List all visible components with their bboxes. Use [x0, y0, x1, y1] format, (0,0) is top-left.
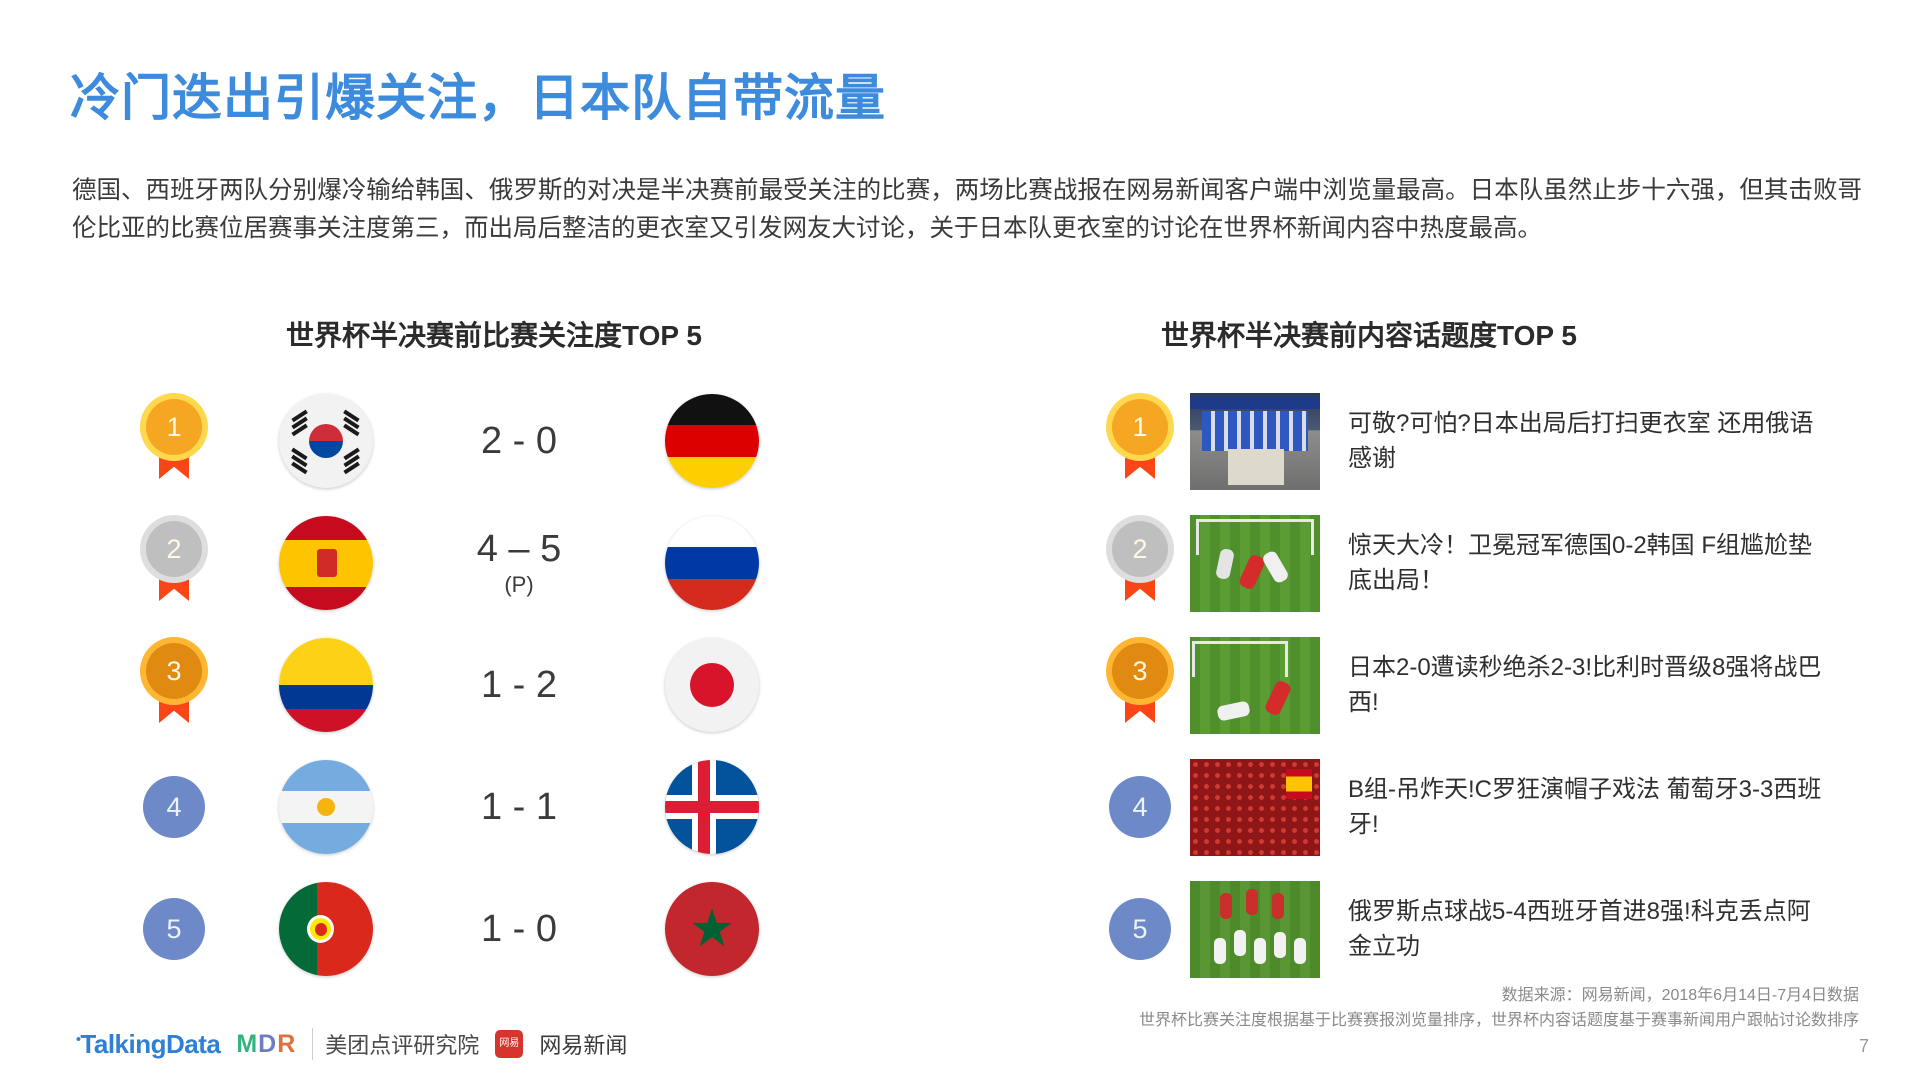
match-score: 2 - 0	[424, 422, 614, 460]
page-title: 冷门迭出引爆关注，日本队自带流量	[70, 58, 886, 130]
rank-cell: 3	[1090, 643, 1190, 727]
news-headline[interactable]: 俄罗斯点球战5-4西班牙首进8强!科克丢点阿金立功	[1348, 894, 1828, 964]
footer-logos: •TalkingData MDR 美团点评研究院 网易 网易新闻	[76, 1028, 627, 1060]
rank-badge: 4	[143, 776, 205, 838]
news-row[interactable]: 1 可敬?可怕?日本出局后打扫更衣室 还用俄语感谢	[1090, 380, 1890, 502]
score-text: 4 – 5	[477, 528, 562, 570]
rank-cell: 1	[1090, 399, 1190, 483]
match-ranking-list: 1	[120, 380, 880, 990]
footnote-block: 数据来源：网易新闻，2018年6月14日-7月4日数据 世界杯比赛关注度根据基于…	[1139, 983, 1859, 1033]
away-flag-cell	[614, 516, 810, 610]
penalty-note: (P)	[424, 574, 614, 596]
rank-cell: 5	[1090, 898, 1190, 960]
match-row: 3 1 - 2	[120, 624, 880, 746]
rank-badge: 4	[1109, 776, 1171, 838]
bronze-medal-icon: 3	[1112, 643, 1168, 727]
flag-morocco-icon: ★	[665, 882, 759, 976]
home-flag-cell	[228, 760, 424, 854]
flag-argentina-icon	[279, 760, 373, 854]
flag-iceland-icon	[665, 760, 759, 854]
flag-russia-icon	[665, 516, 759, 610]
rank-badge: 5	[1109, 898, 1171, 960]
rank-cell: 4	[1090, 776, 1190, 838]
home-flag-cell	[228, 516, 424, 610]
flag-south-korea-icon	[279, 394, 373, 488]
away-flag-cell	[614, 760, 810, 854]
mdr-logo: MDR	[236, 1030, 296, 1059]
news-row[interactable]: 2 惊天大冷！卫冕冠军德国0-2韩国 F组尴尬垫底出局！	[1090, 502, 1890, 624]
news-thumbnail[interactable]	[1190, 515, 1320, 612]
rank-cell: 5	[120, 898, 228, 960]
wangyi-news-logo: 网易新闻	[539, 1028, 627, 1060]
news-thumbnail[interactable]	[1190, 759, 1320, 856]
flag-portugal-icon	[279, 882, 373, 976]
match-row: 4 1 - 1	[120, 746, 880, 868]
news-headline[interactable]: 惊天大冷！卫冕冠军德国0-2韩国 F组尴尬垫底出局！	[1348, 528, 1828, 598]
gold-medal-icon: 1	[1112, 399, 1168, 483]
away-flag-cell	[614, 394, 810, 488]
news-thumbnail[interactable]	[1190, 637, 1320, 734]
rank-cell: 3	[120, 643, 228, 727]
rank-cell: 2	[120, 521, 228, 605]
rank-cell: 1	[120, 399, 228, 483]
home-flag-cell	[228, 638, 424, 732]
rank-badge: 5	[143, 898, 205, 960]
score-text: 2 - 0	[481, 420, 557, 462]
silver-medal-icon: 2	[146, 521, 202, 605]
match-score: 1 - 2	[424, 666, 614, 704]
match-score: 1 - 1	[424, 788, 614, 826]
match-score: 4 – 5 (P)	[424, 530, 614, 596]
page-number: 7	[1859, 1036, 1869, 1057]
news-ranking-list: 1 可敬?可怕?日本出局后打扫更衣室 还用俄语感谢 2 惊天大冷！卫冕冠军德国0…	[1090, 380, 1890, 990]
news-headline[interactable]: 可敬?可怕?日本出局后打扫更衣室 还用俄语感谢	[1348, 406, 1828, 476]
gold-medal-icon: 1	[146, 399, 202, 483]
flag-colombia-icon	[279, 638, 373, 732]
match-row: 5 1 - 0 ★	[120, 868, 880, 990]
footnote-method: 世界杯比赛关注度根据基于比赛赛报浏览量排序，世界杯内容话题度基于赛事新闻用户跟帖…	[1139, 1008, 1859, 1033]
medal-rank-label: 3	[146, 643, 202, 699]
rank-cell: 2	[1090, 521, 1190, 605]
meituan-research-logo: 美团点评研究院	[312, 1028, 479, 1060]
score-text: 1 - 1	[481, 786, 557, 828]
medal-rank-label: 3	[1112, 643, 1168, 699]
talkingdata-logo: •TalkingData	[76, 1029, 220, 1060]
news-headline[interactable]: B组-吊炸天!C罗狂演帽子戏法 葡萄牙3-3西班牙!	[1348, 772, 1828, 842]
news-thumbnail[interactable]	[1190, 881, 1320, 978]
intro-paragraph: 德国、西班牙两队分别爆冷输给韩国、俄罗斯的对决是半决赛前最受关注的比赛，两场比赛…	[72, 172, 1862, 248]
medal-rank-label: 1	[146, 399, 202, 455]
silver-medal-icon: 2	[1112, 521, 1168, 605]
medal-rank-label: 1	[1112, 399, 1168, 455]
talkingdata-logo-text: TalkingData	[80, 1029, 220, 1059]
news-headline[interactable]: 日本2-0遭读秒绝杀2-3!比利时晋级8强将战巴西!	[1348, 650, 1828, 720]
mdr-logo-d: D	[258, 1030, 277, 1058]
slide-page: 冷门迭出引爆关注，日本队自带流量 德国、西班牙两队分别爆冷输给韩国、俄罗斯的对决…	[0, 0, 1921, 1080]
news-row[interactable]: 4 B组-吊炸天!C罗狂演帽子戏法 葡萄牙3-3西班牙!	[1090, 746, 1890, 868]
away-flag-cell	[614, 638, 810, 732]
rank-cell: 4	[120, 776, 228, 838]
news-thumbnail[interactable]	[1190, 393, 1320, 490]
right-section-title: 世界杯半决赛前内容话题度TOP 5	[1161, 314, 1577, 354]
wangyi-badge-icon: 网易	[495, 1030, 523, 1058]
medal-rank-label: 2	[1112, 521, 1168, 577]
home-flag-cell	[228, 394, 424, 488]
score-text: 1 - 2	[481, 664, 557, 706]
mdr-logo-m: M	[236, 1030, 258, 1058]
news-row[interactable]: 5 俄罗斯点球战5-4西班牙首进8强!科克丢点阿金立功	[1090, 868, 1890, 990]
home-flag-cell	[228, 882, 424, 976]
medal-rank-label: 2	[146, 521, 202, 577]
flag-spain-icon	[279, 516, 373, 610]
score-text: 1 - 0	[481, 908, 557, 950]
flag-germany-icon	[665, 394, 759, 488]
news-row[interactable]: 3 日本2-0遭读秒绝杀2-3!比利时晋级8强将战巴西!	[1090, 624, 1890, 746]
match-score: 1 - 0	[424, 910, 614, 948]
mdr-logo-r: R	[277, 1030, 296, 1058]
left-section-title: 世界杯半决赛前比赛关注度TOP 5	[286, 314, 702, 354]
match-row: 1	[120, 380, 880, 502]
away-flag-cell: ★	[614, 882, 810, 976]
match-row: 2 4 – 5 (P)	[120, 502, 880, 624]
footnote-source: 数据来源：网易新闻，2018年6月14日-7月4日数据	[1139, 983, 1859, 1008]
bronze-medal-icon: 3	[146, 643, 202, 727]
flag-japan-icon	[665, 638, 759, 732]
